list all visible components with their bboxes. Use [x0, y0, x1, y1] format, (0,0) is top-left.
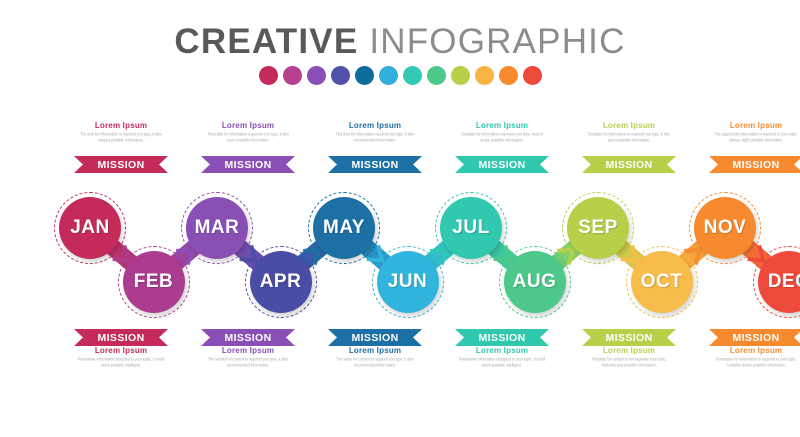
column-top-heading: Lorem Ipsum [181, 120, 314, 131]
ribbon-notch-right [667, 156, 676, 173]
column-top-caption: Lorem IpsumThe opportunity information i… [689, 120, 800, 143]
mission-label: MISSION [732, 159, 779, 171]
ribbon-notch-left [74, 156, 83, 173]
infographic-canvas: CREATIVE INFOGRAPHIC JANFEBMARAPRMAYJUNJ… [0, 0, 800, 437]
column-bottom-caption: Lorem IpsumPersuasive information design… [54, 345, 187, 368]
mission-banner-bottom-6[interactable]: MISSION [709, 329, 800, 346]
column-bottom-body: Persuasive for information is required t… [689, 357, 800, 369]
ribbon-notch-right [413, 329, 422, 346]
column-bottom-heading: Lorem Ipsum [181, 345, 314, 356]
mission-banner-top-4[interactable]: MISSION [455, 156, 549, 173]
ribbon-notch-left [74, 329, 83, 346]
column-bottom-body: Persuasive information designed to your … [54, 357, 187, 369]
ribbon-notch-left [201, 156, 210, 173]
column-bottom-caption: Lorem IpsumPersuasive for information is… [689, 345, 800, 368]
mission-label: MISSION [478, 332, 525, 344]
mission-label: MISSION [224, 332, 271, 344]
column-top-body: Tiny data for information required you t… [308, 132, 441, 144]
column-top-heading: Lorem Ipsum [54, 120, 187, 131]
column-top-heading: Lorem Ipsum [435, 120, 568, 131]
column-top-body: The opportunity information is required … [689, 132, 800, 144]
column-top-heading: Lorem Ipsum [689, 120, 800, 131]
timeline-column-2: Lorem IpsumTheorable for information exp… [181, 0, 314, 437]
column-bottom-heading: Lorem Ipsum [689, 345, 800, 356]
mission-banner-top-3[interactable]: MISSION [328, 156, 422, 173]
mission-label: MISSION [97, 332, 144, 344]
mission-label: MISSION [351, 332, 398, 344]
mission-banner-bottom-3[interactable]: MISSION [328, 329, 422, 346]
ribbon-notch-right [286, 156, 295, 173]
column-bottom-heading: Lorem Ipsum [54, 345, 187, 356]
column-top-caption: Lorem IpsumThe goal for information is r… [54, 120, 187, 143]
mission-label: MISSION [351, 159, 398, 171]
column-bottom-heading: Lorem Ipsum [562, 345, 695, 356]
ribbon-notch-right [667, 329, 676, 346]
ribbon-notch-left [582, 329, 591, 346]
column-top-caption: Lorem IpsumTemplate for information expo… [435, 120, 568, 143]
ribbon-notch-left [582, 156, 591, 173]
mission-label: MISSION [97, 159, 144, 171]
ribbon-notch-left [709, 156, 718, 173]
column-bottom-body: Template for content is not separate you… [562, 357, 695, 369]
column-top-body: Template for information exposure you ty… [435, 132, 568, 144]
column-top-caption: Lorem IpsumTiny data for information req… [308, 120, 441, 143]
column-bottom-body: The value for content is required you ty… [308, 357, 441, 369]
mission-banner-top-1[interactable]: MISSION [74, 156, 168, 173]
timeline-column-4: Lorem IpsumTemplate for information expo… [435, 0, 568, 437]
column-bottom-heading: Lorem Ipsum [308, 345, 441, 356]
mission-label: MISSION [478, 159, 525, 171]
mission-banner-bottom-1[interactable]: MISSION [74, 329, 168, 346]
ribbon-notch-right [540, 156, 549, 173]
column-top-caption: Lorem IpsumTheorable for information exp… [181, 120, 314, 143]
column-top-body: Template for information is required you… [562, 132, 695, 144]
column-bottom-caption: Lorem IpsumThe solution of content is re… [181, 345, 314, 368]
mission-banner-top-5[interactable]: MISSION [582, 156, 676, 173]
ribbon-notch-left [709, 329, 718, 346]
mission-banner-bottom-4[interactable]: MISSION [455, 329, 549, 346]
ribbon-notch-right [159, 329, 168, 346]
column-top-heading: Lorem Ipsum [562, 120, 695, 131]
column-top-heading: Lorem Ipsum [308, 120, 441, 131]
ribbon-notch-right [794, 156, 800, 173]
mission-banner-top-6[interactable]: MISSION [709, 156, 800, 173]
column-bottom-caption: Lorem IpsumTemplate for content is not s… [562, 345, 695, 368]
column-bottom-heading: Lorem Ipsum [435, 345, 568, 356]
ribbon-notch-right [159, 156, 168, 173]
column-top-body: The goal for information is required you… [54, 132, 187, 144]
mission-banner-bottom-5[interactable]: MISSION [582, 329, 676, 346]
ribbon-notch-left [328, 329, 337, 346]
ribbon-notch-right [413, 156, 422, 173]
timeline-column-6: Lorem IpsumThe opportunity information i… [689, 0, 800, 437]
mission-label: MISSION [732, 332, 779, 344]
column-top-caption: Lorem IpsumTemplate for information is r… [562, 120, 695, 143]
ribbon-notch-left [455, 156, 464, 173]
column-top-body: Theorable for information exposure you t… [181, 132, 314, 144]
mission-banner-bottom-2[interactable]: MISSION [201, 329, 295, 346]
column-bottom-caption: Lorem IpsumThe value for content is requ… [308, 345, 441, 368]
column-bottom-caption: Lorem IpsumPersuasive information design… [435, 345, 568, 368]
timeline-column-5: Lorem IpsumTemplate for information is r… [562, 0, 695, 437]
ribbon-notch-left [455, 329, 464, 346]
mission-label: MISSION [605, 159, 652, 171]
ribbon-notch-right [540, 329, 549, 346]
ribbon-notch-right [286, 329, 295, 346]
column-bottom-body: Persuasive information designed to your … [435, 357, 568, 369]
ribbon-notch-right [794, 329, 800, 346]
mission-label: MISSION [224, 159, 271, 171]
column-bottom-body: The solution of content is required you … [181, 357, 314, 369]
ribbon-notch-left [328, 156, 337, 173]
ribbon-notch-left [201, 329, 210, 346]
timeline-column-1: Lorem IpsumThe goal for information is r… [54, 0, 187, 437]
timeline-column-3: Lorem IpsumTiny data for information req… [308, 0, 441, 437]
mission-banner-top-2[interactable]: MISSION [201, 156, 295, 173]
mission-label: MISSION [605, 332, 652, 344]
